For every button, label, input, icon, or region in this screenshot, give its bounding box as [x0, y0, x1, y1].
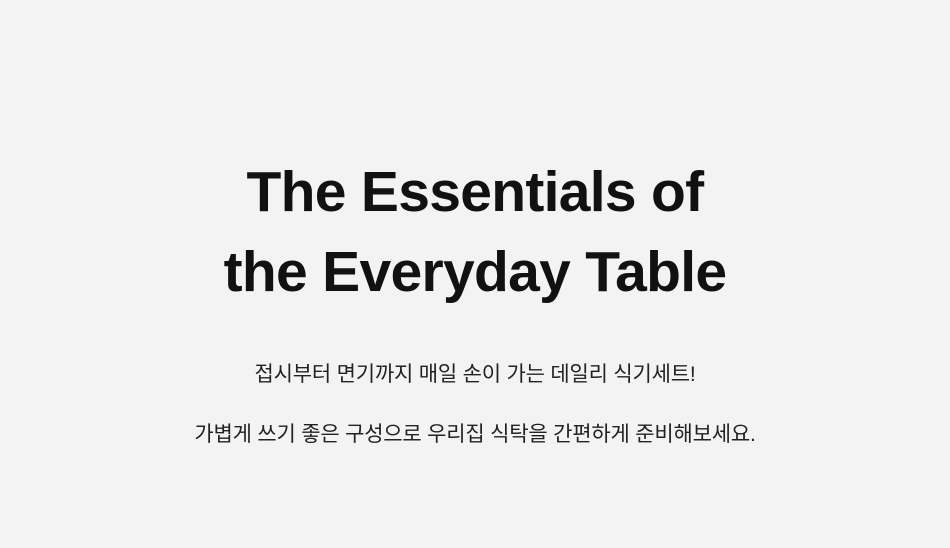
- page-subtitle: 접시부터 면기까지 매일 손이 가는 데일리 식기세트! 가볍게 쓰기 좋은 구…: [0, 345, 950, 465]
- page-title: The Essentials of the Everyday Table: [0, 152, 950, 312]
- page-title-line-2: the Everyday Table: [0, 232, 950, 312]
- promo-banner: The Essentials of the Everyday Table 접시부…: [0, 0, 950, 548]
- page-subtitle-line-2: 가볍게 쓰기 좋은 구성으로 우리집 식탁을 간편하게 준비해보세요.: [0, 405, 950, 465]
- page-title-line-1: The Essentials of: [0, 152, 950, 232]
- page-subtitle-line-1: 접시부터 면기까지 매일 손이 가는 데일리 식기세트!: [0, 345, 950, 405]
